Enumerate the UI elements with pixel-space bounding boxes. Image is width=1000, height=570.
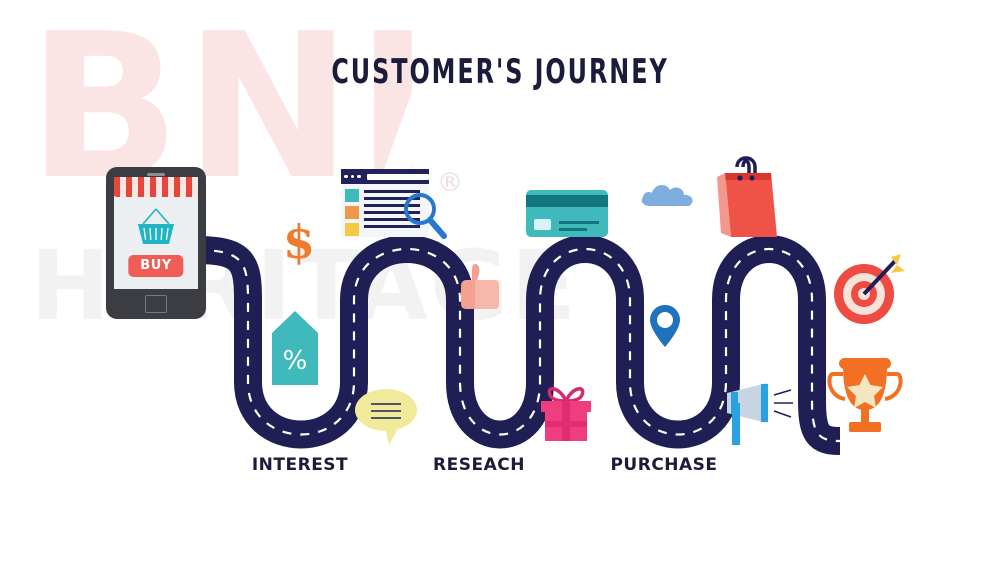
phone-screen: BUY — [114, 177, 198, 289]
browser-search-window-icon — [341, 169, 429, 237]
magnifier-icon — [400, 191, 452, 243]
stage-label-purchase: PURCHASE — [610, 455, 717, 475]
trophy-icon — [823, 352, 907, 436]
stage-label-interest: INTEREST — [252, 455, 348, 475]
credit-card-chip-icon — [534, 219, 551, 230]
phone-home-button-icon — [145, 295, 167, 313]
browser-swatch-list — [345, 189, 359, 236]
megaphone-icon — [721, 379, 795, 445]
stage-label-reseach: RESEACH — [433, 455, 525, 475]
mobile-shop-phone-icon: BUY — [106, 167, 206, 319]
shopping-basket-icon — [132, 207, 180, 249]
browser-dot-icon — [344, 175, 348, 179]
browser-swatch-icon — [345, 223, 359, 236]
gift-box-icon — [538, 383, 594, 441]
thumbs-up-icon — [461, 262, 499, 310]
browser-dot-icon — [357, 175, 361, 179]
browser-title-bar — [341, 169, 429, 184]
browser-dot-icon — [351, 175, 355, 179]
shop-awning-edge — [114, 193, 198, 197]
speech-bubble-icon — [355, 387, 417, 445]
credit-card-icon — [526, 190, 608, 237]
credit-card-magnetic-stripe — [526, 195, 608, 207]
credit-card-number-line — [559, 228, 587, 231]
page-title: CUSTOMER'S JOURNEY — [110, 52, 890, 92]
phone-speaker-icon — [147, 173, 165, 176]
browser-swatch-icon — [345, 189, 359, 202]
percent-up-arrow-icon: % — [272, 311, 318, 385]
buy-button[interactable]: BUY — [128, 255, 183, 277]
target-with-arrow-icon — [831, 253, 905, 327]
browser-swatch-icon — [345, 206, 359, 219]
browser-url-bar — [367, 174, 429, 180]
credit-card-number-line — [559, 221, 599, 224]
cloud-icon — [640, 180, 696, 206]
dollar-sign-icon: $ — [283, 219, 315, 265]
shopping-bag-icon — [713, 147, 779, 239]
infographic-canvas: BNI HERITAGE ® CUSTOMER'S JOURNEY INTERE… — [0, 0, 1000, 570]
location-pin-icon — [650, 305, 680, 347]
percent-symbol: % — [283, 346, 308, 376]
